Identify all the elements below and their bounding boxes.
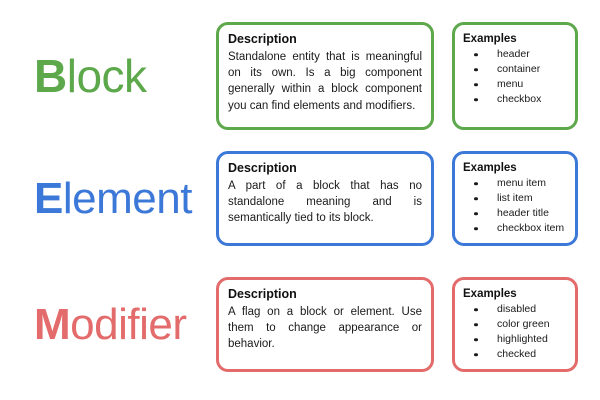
list-item: container (465, 62, 567, 77)
term-remaining-letters: odifier (70, 303, 186, 347)
term-initial-letter: M (34, 303, 70, 347)
term-heading-block: Block (34, 22, 147, 130)
list-item-label: checkbox (497, 93, 541, 105)
description-title: Description (228, 287, 422, 303)
description-text: A part of a block that has no standalone… (228, 178, 422, 227)
term-remaining-letters: lement (63, 177, 192, 221)
term-initial-letter: B (34, 53, 67, 99)
examples-title: Examples (463, 32, 567, 46)
description-card-block: Description Standalone entity that is me… (216, 22, 434, 130)
term-remaining-letters: lock (67, 53, 147, 99)
examples-list: menu item list item header title checkbo… (463, 176, 567, 236)
list-item-label: disabled (497, 303, 536, 315)
examples-card-element: Examples menu item list item header titl… (452, 151, 578, 246)
bem-row-element: Element Description A part of a block th… (0, 151, 600, 246)
examples-list: disabled color green highlighted checked (463, 302, 567, 362)
description-title: Description (228, 161, 422, 177)
bullet-dot-icon (474, 308, 478, 312)
list-item-label: header title (497, 207, 549, 219)
term-initial-letter: E (34, 177, 63, 221)
description-title: Description (228, 32, 422, 48)
bullet-dot-icon (474, 53, 478, 57)
bullet-dot-icon (474, 68, 478, 72)
bullet-dot-icon (474, 83, 478, 87)
examples-card-modifier: Examples disabled color green highlighte… (452, 277, 578, 372)
list-item-label: menu item (497, 177, 546, 189)
examples-card-block: Examples header container menu checkbox (452, 22, 578, 130)
list-item-label: checkbox item (497, 222, 564, 234)
bem-row-block: Block Description Standalone entity that… (0, 22, 600, 130)
list-item-label: checked (497, 348, 536, 360)
examples-title: Examples (463, 161, 567, 175)
list-item: disabled (465, 302, 567, 317)
examples-list: header container menu checkbox (463, 47, 567, 107)
bullet-dot-icon (474, 182, 478, 186)
list-item: menu (465, 77, 567, 92)
description-text: Standalone entity that is meaningful on … (228, 49, 422, 114)
list-item: list item (465, 191, 567, 206)
list-item-label: highlighted (497, 333, 548, 345)
bullet-dot-icon (474, 227, 478, 231)
bullet-dot-icon (474, 323, 478, 327)
description-card-modifier: Description A flag on a block or element… (216, 277, 434, 372)
bullet-dot-icon (474, 353, 478, 357)
list-item-label: color green (497, 318, 550, 330)
list-item: header title (465, 206, 567, 221)
bullet-dot-icon (474, 197, 478, 201)
list-item: color green (465, 317, 567, 332)
term-heading-modifier: Modifier (34, 277, 187, 372)
description-card-element: Description A part of a block that has n… (216, 151, 434, 246)
list-item: checkbox (465, 92, 567, 107)
list-item-label: list item (497, 192, 533, 204)
bullet-dot-icon (474, 338, 478, 342)
description-text: A flag on a block or element. Use them t… (228, 304, 422, 353)
list-item-label: header (497, 48, 530, 60)
list-item: header (465, 47, 567, 62)
list-item: checkbox item (465, 221, 567, 236)
bem-row-modifier: Modifier Description A flag on a block o… (0, 277, 600, 372)
bem-diagram: Block Description Standalone entity that… (0, 0, 600, 400)
term-heading-element: Element (34, 151, 192, 246)
examples-title: Examples (463, 287, 567, 301)
list-item-label: container (497, 63, 540, 75)
bullet-dot-icon (474, 212, 478, 216)
list-item: highlighted (465, 332, 567, 347)
list-item: checked (465, 347, 567, 362)
list-item: menu item (465, 176, 567, 191)
list-item-label: menu (497, 78, 523, 90)
bullet-dot-icon (474, 98, 478, 102)
